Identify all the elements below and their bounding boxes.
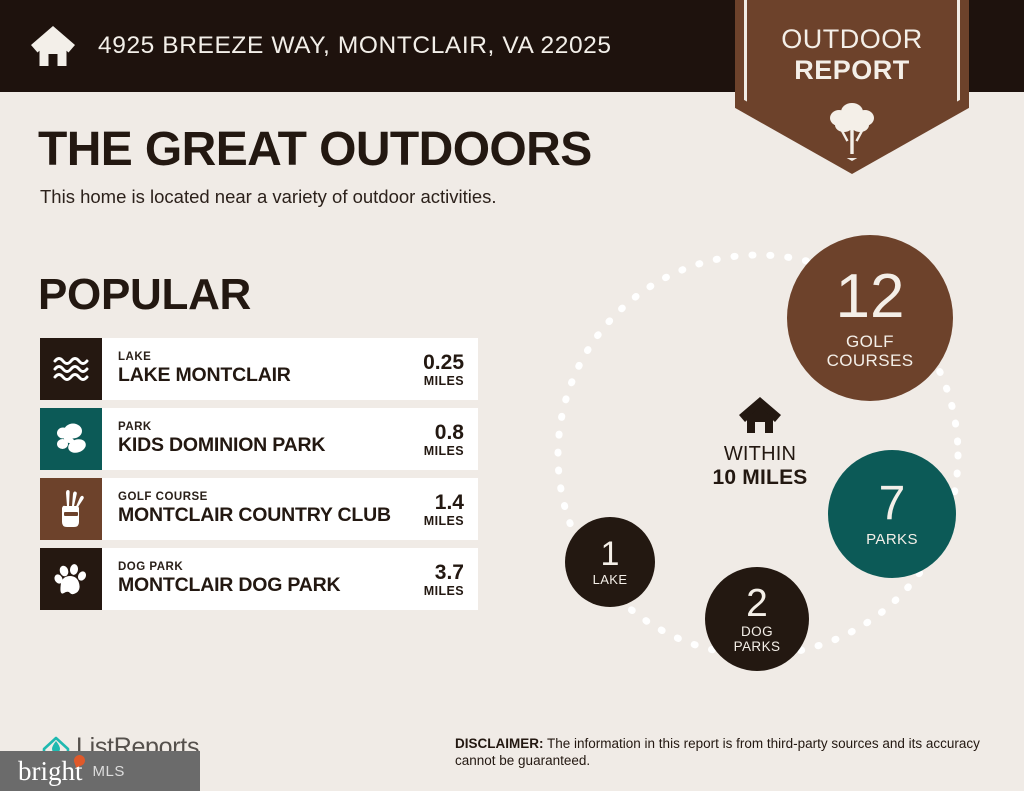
list-item[interactable]: GOLF COURSE MONTCLAIR COUNTRY CLUB 1.4 M… xyxy=(40,478,478,540)
stat-label-line2: PARKS xyxy=(734,639,781,654)
golf-tile xyxy=(40,478,102,540)
list-item-category: GOLF COURSE xyxy=(118,491,408,504)
list-item[interactable]: DOG PARK MONTCLAIR DOG PARK 3.7 MILES xyxy=(40,548,478,610)
disclaimer-label: DISCLAIMER: xyxy=(455,736,544,751)
distance-unit: MILES xyxy=(424,374,464,388)
list-item-category: DOG PARK xyxy=(118,561,408,574)
stat-label: PARKS xyxy=(866,531,918,548)
distance-unit: MILES xyxy=(424,514,464,528)
list-item-name: MONTCLAIR COUNTRY CLUB xyxy=(118,504,408,527)
stat-count: 2 xyxy=(746,584,768,623)
list-item-category: PARK xyxy=(118,421,408,434)
list-item-name: KIDS DOMINION PARK xyxy=(118,434,408,457)
distance-value: 0.25 xyxy=(423,351,464,374)
bright-wordmark: bright xyxy=(18,758,83,785)
trees-icon xyxy=(53,422,89,456)
within-line1: WITHIN xyxy=(685,443,835,466)
list-item-category: LAKE xyxy=(118,351,408,364)
within-line2: 10 MILES xyxy=(685,466,835,490)
tree-icon xyxy=(820,98,884,154)
list-item-name: LAKE MONTCLAIR xyxy=(118,364,408,387)
popular-list: LAKE LAKE MONTCLAIR 0.25 MILES xyxy=(40,338,478,618)
stat-label: DOG PARKS xyxy=(734,624,781,654)
mls-text: MLS xyxy=(93,763,125,780)
property-address: 4925 BREEZE WAY, MONTCLAIR, VA 22025 xyxy=(98,32,612,60)
stat-label: LAKE xyxy=(593,573,628,587)
stat-label-line1: DOG xyxy=(741,624,773,639)
list-item-text: LAKE LAKE MONTCLAIR xyxy=(102,338,408,400)
list-item-distance: 0.8 MILES xyxy=(408,408,478,470)
home-icon xyxy=(30,24,76,68)
distance-unit: MILES xyxy=(424,444,464,458)
stat-count: 12 xyxy=(836,266,905,328)
list-item-text: GOLF COURSE MONTCLAIR COUNTRY CLUB xyxy=(102,478,408,540)
distance-unit: MILES xyxy=(424,584,464,598)
stat-count: 1 xyxy=(601,537,620,571)
list-item-distance: 1.4 MILES xyxy=(408,478,478,540)
list-item-text: PARK KIDS DOMINION PARK xyxy=(102,408,408,470)
waves-icon xyxy=(52,354,90,384)
list-item-distance: 3.7 MILES xyxy=(408,548,478,610)
list-item-name: MONTCLAIR DOG PARK xyxy=(118,574,408,597)
bright-mls-watermark: bright MLS xyxy=(0,751,200,791)
home-icon xyxy=(738,395,782,435)
list-item[interactable]: PARK KIDS DOMINION PARK 0.8 MILES xyxy=(40,408,478,470)
list-item-text: DOG PARK MONTCLAIR DOG PARK xyxy=(102,548,408,610)
badge-title-line1: OUTDOOR xyxy=(735,24,969,55)
list-item[interactable]: LAKE LAKE MONTCLAIR 0.25 MILES xyxy=(40,338,478,400)
list-item-distance: 0.25 MILES xyxy=(408,338,478,400)
stat-label: GOLF COURSES xyxy=(827,332,914,370)
outdoor-report-page: 4925 BREEZE WAY, MONTCLAIR, VA 22025 OUT… xyxy=(0,0,1024,791)
popular-heading: POPULAR xyxy=(38,270,251,320)
distance-value: 0.8 xyxy=(435,421,464,444)
dog-park-tile xyxy=(40,548,102,610)
stat-label-line2: COURSES xyxy=(827,351,914,370)
amenities-diagram: 12 GOLF COURSES 7 PARKS 2 DOG PARKS 1 LA… xyxy=(500,210,1024,690)
page-subtitle: This home is located near a variety of o… xyxy=(40,186,497,208)
stat-bubble-lake[interactable]: 1 LAKE xyxy=(565,517,655,607)
badge-title: OUTDOOR REPORT xyxy=(735,24,969,86)
distance-value: 3.7 xyxy=(435,561,464,584)
stat-bubble-golf-courses[interactable]: 12 GOLF COURSES xyxy=(787,235,953,401)
distance-value: 1.4 xyxy=(435,491,464,514)
stat-count: 7 xyxy=(879,480,906,528)
stat-bubble-parks[interactable]: 7 PARKS xyxy=(828,450,956,578)
page-title: THE GREAT OUTDOORS xyxy=(38,122,592,177)
stat-bubble-dog-parks[interactable]: 2 DOG PARKS xyxy=(705,567,809,671)
badge-title-line2: REPORT xyxy=(735,55,969,86)
park-tile xyxy=(40,408,102,470)
paw-icon xyxy=(54,562,88,596)
within-radius-label: WITHIN 10 MILES xyxy=(685,395,835,490)
golf-bag-icon xyxy=(55,490,87,528)
stat-label-line1: GOLF xyxy=(846,332,894,351)
disclaimer: DISCLAIMER: The information in this repo… xyxy=(455,735,1015,769)
lake-tile xyxy=(40,338,102,400)
